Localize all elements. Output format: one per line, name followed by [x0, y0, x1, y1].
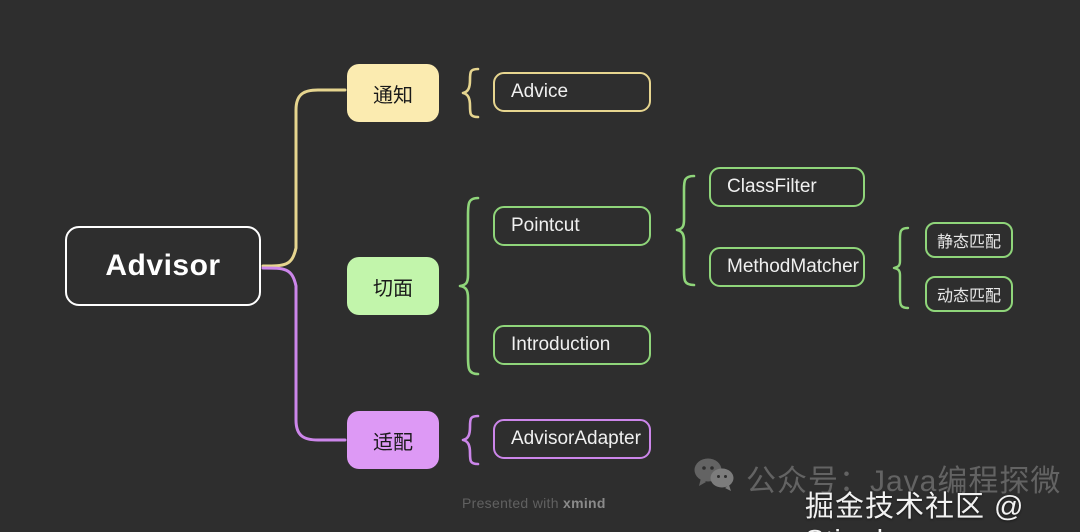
category-node-advice[interactable]: 通知 [347, 64, 439, 122]
node-static-matching[interactable]: 静态匹配 [925, 222, 1013, 258]
node-advice[interactable]: Advice [493, 72, 651, 112]
category-node-aspect[interactable]: 切面 [347, 257, 439, 315]
node-methodmatcher[interactable]: MethodMatcher [709, 247, 865, 287]
node-label-methodmatcher: MethodMatcher [727, 256, 859, 278]
node-label-introduction: Introduction [511, 334, 610, 356]
link-root-adapter [263, 268, 345, 440]
root-node[interactable]: Advisor [65, 226, 261, 306]
brace-adapter [463, 416, 478, 464]
wechat-icon [694, 457, 736, 499]
mindmap-canvas: Advisor 通知 切面 适配 Advice Pointcut Introdu… [0, 0, 1080, 532]
brace-aspect [460, 198, 478, 374]
xmind-credit-prefix: Presented with [462, 495, 563, 511]
node-label-dynamic-matching: 动态匹配 [937, 282, 1001, 306]
watermark-juejin: 掘金技术社区 @ Stimd [805, 483, 1080, 532]
node-label-classfilter: ClassFilter [727, 176, 817, 198]
brace-advice [463, 69, 478, 117]
node-label-pointcut: Pointcut [511, 215, 580, 237]
node-label-advice: Advice [511, 81, 568, 103]
category-label-advice: 通知 [373, 79, 413, 108]
node-introduction[interactable]: Introduction [493, 325, 651, 365]
category-label-aspect: 切面 [373, 272, 413, 301]
node-classfilter[interactable]: ClassFilter [709, 167, 865, 207]
node-dynamic-matching[interactable]: 动态匹配 [925, 276, 1013, 312]
node-pointcut[interactable]: Pointcut [493, 206, 651, 246]
xmind-brand: xmind [563, 495, 606, 511]
root-node-label: Advisor [105, 249, 220, 283]
category-label-adapter: 适配 [373, 426, 413, 455]
brace-methodmatcher [894, 228, 908, 308]
category-node-adapter[interactable]: 适配 [347, 411, 439, 469]
node-label-advisoradapter: AdvisorAdapter [511, 428, 641, 450]
xmind-credit: Presented with xmind [462, 495, 606, 511]
node-label-static-matching: 静态匹配 [937, 228, 1001, 252]
brace-pointcut [677, 176, 694, 285]
link-root-advice [263, 90, 345, 266]
node-advisoradapter[interactable]: AdvisorAdapter [493, 419, 651, 459]
